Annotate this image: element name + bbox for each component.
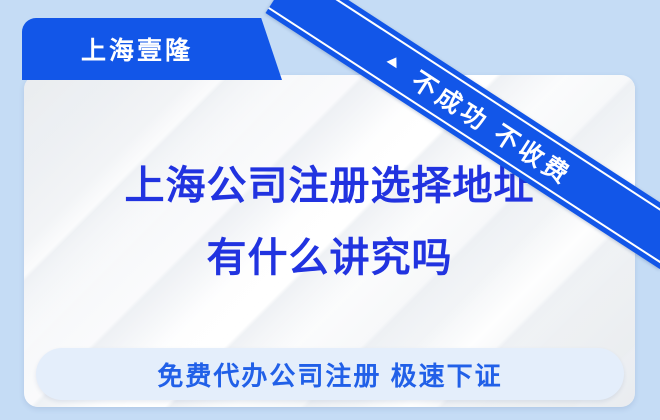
cta-pill[interactable]: 免费代办公司注册 极速下证 <box>36 348 624 400</box>
promo-poster: 上海壹隆 上海公司注册选择地址 有什么讲究吗 免费代办公司注册 极速下证 不成功… <box>0 0 660 420</box>
cta-pill-label: 免费代办公司注册 极速下证 <box>157 356 502 393</box>
headline-line-2: 有什么讲究吗 <box>24 222 635 294</box>
triangle-up-icon <box>386 54 401 68</box>
brand-tab[interactable]: 上海壹隆 <box>22 18 282 80</box>
brand-tab-label: 上海壹隆 <box>22 18 252 80</box>
